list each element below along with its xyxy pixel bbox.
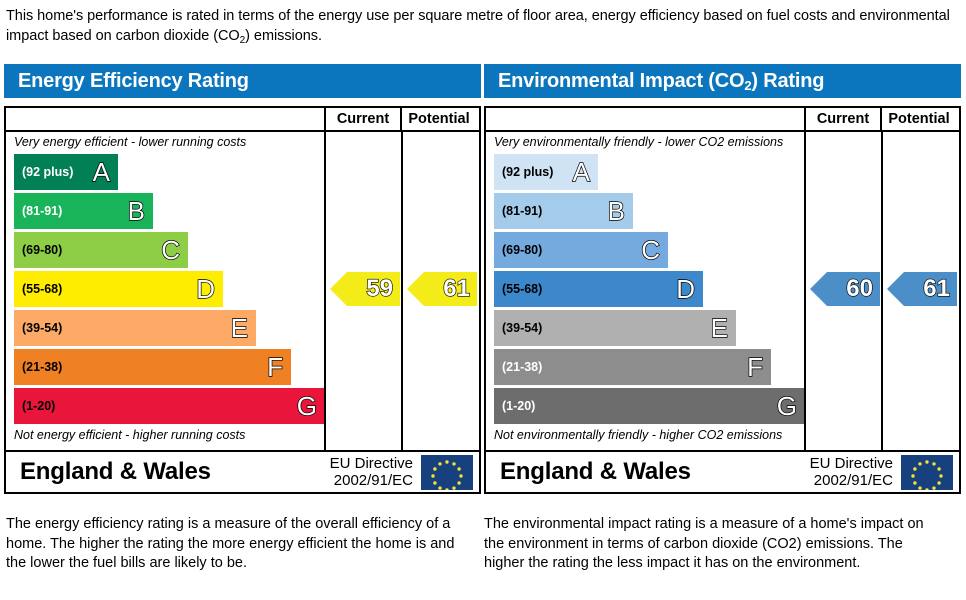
band-letter-f: F [267, 354, 283, 380]
energy-region-label: England & Wales [6, 458, 330, 486]
environmental-bottom-caption: Not environmentally friendly - higher CO… [486, 426, 804, 448]
rating-band-g: (1-20)G [14, 388, 325, 424]
band-letter-d: D [676, 276, 695, 302]
energy-potential-header: Potential [400, 108, 476, 130]
environmental-potential-arrow-wrap: 61 [887, 272, 957, 306]
env-title-a: Environmental Impact (CO [498, 70, 744, 92]
environmental-potential-header: Potential [880, 108, 956, 130]
energy-potential-value: 61 [443, 277, 470, 301]
rating-band-e: (39-54)E [14, 310, 256, 346]
environmental-potential-arrow: 61 [887, 272, 957, 306]
environmental-potential-value: 61 [923, 277, 950, 301]
environmental-impact-title: Environmental Impact (CO2) Rating [484, 64, 961, 98]
band-range-label: (55-68) [502, 282, 542, 296]
rating-band-f: (21-38)F [14, 349, 291, 385]
energy-explanation: The energy efficiency rating is a measur… [6, 515, 466, 574]
environmental-explanation: The environmental impact rating is a mea… [484, 515, 944, 574]
energy-efficiency-panel: Energy Efficiency Rating Current Potenti… [4, 64, 481, 494]
rating-band-e: (39-54)E [494, 310, 736, 346]
energy-potential-arrow-wrap: 61 [407, 272, 477, 306]
rating-band-c: (69-80)C [494, 232, 668, 268]
band-letter-g: G [297, 393, 317, 419]
header-spacer [6, 108, 324, 130]
rating-band-g: (1-20)G [494, 388, 805, 424]
band-range-label: (55-68) [22, 282, 62, 296]
eu-flag-icon [901, 455, 953, 490]
energy-directive-label: EU Directive 2002/91/EC [330, 455, 421, 489]
band-letter-f: F [747, 354, 763, 380]
energy-potential-column: 61 [401, 132, 478, 450]
band-range-label: (81-91) [22, 204, 62, 218]
environmental-column-headers: Current Potential [486, 108, 959, 132]
band-range-label: (1-20) [502, 399, 535, 413]
band-range-label: (69-80) [502, 243, 542, 257]
environmental-current-header: Current [804, 108, 880, 130]
environmental-current-arrow: 60 [810, 272, 880, 306]
rating-band-b: (81-91)B [14, 193, 153, 229]
intro-line-2b: ) emissions. [245, 28, 322, 44]
band-letter-a: A [93, 159, 110, 185]
environmental-potential-column: 61 [881, 132, 958, 450]
environmental-bands-area: Very environmentally friendly - lower CO… [486, 132, 804, 450]
intro-paragraph: This home's performance is rated in term… [6, 6, 956, 51]
environmental-region-label: England & Wales [486, 458, 810, 486]
energy-directive-line-1: EU Directive [330, 455, 413, 472]
band-letter-b: B [608, 198, 625, 224]
band-letter-e: E [711, 315, 728, 341]
energy-efficiency-chart: Current Potential Very energy efficient … [4, 106, 481, 494]
header-spacer [486, 108, 804, 130]
environmental-impact-panel: Environmental Impact (CO2) Rating Curren… [484, 64, 961, 494]
environmental-directive-line-1: EU Directive [810, 455, 893, 472]
band-letter-d: D [196, 276, 215, 302]
band-letter-c: C [161, 237, 180, 263]
band-range-label: (92 plus) [502, 165, 553, 179]
environmental-top-caption: Very environmentally friendly - lower CO… [486, 132, 804, 154]
eu-flag-icon [421, 455, 473, 490]
environmental-directive-line-2: 2002/91/EC [810, 472, 893, 489]
energy-chart-body: Very energy efficient - lower running co… [6, 132, 479, 450]
energy-efficiency-title: Energy Efficiency Rating [4, 64, 481, 98]
intro-line-1: This home's performance is rated in term… [6, 8, 699, 24]
env-title-b: ) Rating [751, 70, 824, 92]
rating-band-a: (92 plus)A [494, 154, 598, 190]
band-letter-c: C [641, 237, 660, 263]
energy-current-header: Current [324, 108, 400, 130]
rating-band-f: (21-38)F [494, 349, 771, 385]
environmental-current-column: 60 [804, 132, 881, 450]
band-letter-a: A [573, 159, 590, 185]
energy-current-value: 59 [366, 277, 393, 301]
band-range-label: (21-38) [22, 360, 62, 374]
band-letter-g: G [777, 393, 797, 419]
energy-bottom-caption: Not energy efficient - higher running co… [6, 426, 324, 448]
band-range-label: (39-54) [502, 321, 542, 335]
energy-potential-arrow: 61 [407, 272, 477, 306]
band-range-label: (92 plus) [22, 165, 73, 179]
band-range-label: (69-80) [22, 243, 62, 257]
energy-current-arrow: 59 [330, 272, 400, 306]
energy-column-headers: Current Potential [6, 108, 479, 132]
energy-current-arrow-wrap: 59 [330, 272, 400, 306]
epc-page: This home's performance is rated in term… [0, 0, 966, 600]
rating-band-b: (81-91)B [494, 193, 633, 229]
environmental-current-arrow-wrap: 60 [810, 272, 880, 306]
band-letter-b: B [128, 198, 145, 224]
environmental-impact-chart: Current Potential Very environmentally f… [484, 106, 961, 494]
band-range-label: (1-20) [22, 399, 55, 413]
environmental-chart-body: Very environmentally friendly - lower CO… [486, 132, 959, 450]
environmental-footer: England & Wales EU Directive 2002/91/EC [486, 450, 959, 492]
energy-band-list: (92 plus)A(81-91)B(69-80)C(55-68)D(39-54… [6, 154, 324, 426]
environmental-current-value: 60 [846, 277, 873, 301]
band-range-label: (81-91) [502, 204, 542, 218]
environmental-directive-label: EU Directive 2002/91/EC [810, 455, 901, 489]
energy-directive-line-2: 2002/91/EC [330, 472, 413, 489]
environmental-band-list: (92 plus)A(81-91)B(69-80)C(55-68)D(39-54… [486, 154, 804, 426]
band-range-label: (39-54) [22, 321, 62, 335]
energy-top-caption: Very energy efficient - lower running co… [6, 132, 324, 154]
band-range-label: (21-38) [502, 360, 542, 374]
rating-band-d: (55-68)D [494, 271, 703, 307]
energy-footer: England & Wales EU Directive 2002/91/EC [6, 450, 479, 492]
rating-band-d: (55-68)D [14, 271, 223, 307]
rating-band-a: (92 plus)A [14, 154, 118, 190]
rating-band-c: (69-80)C [14, 232, 188, 268]
energy-bands-area: Very energy efficient - lower running co… [6, 132, 324, 450]
band-letter-e: E [231, 315, 248, 341]
energy-current-column: 59 [324, 132, 401, 450]
